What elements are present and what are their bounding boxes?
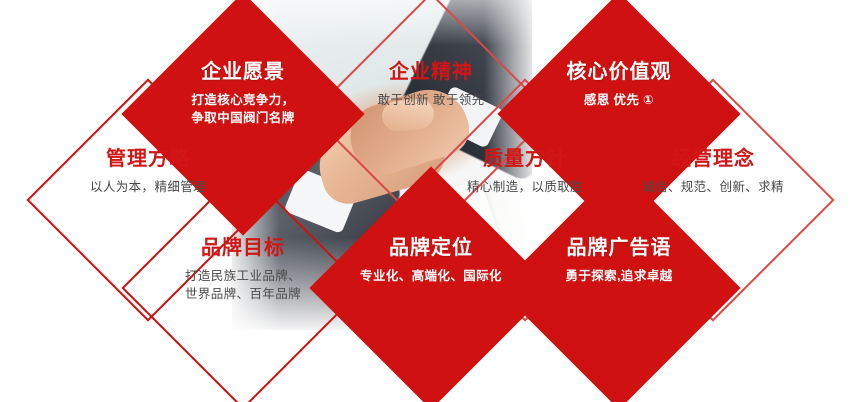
infographic-canvas: 企业愿景 打造核心竞争力， 争取中国阀门名牌 企业精神 敢于创新 敢于领先 核心… [0, 0, 850, 402]
